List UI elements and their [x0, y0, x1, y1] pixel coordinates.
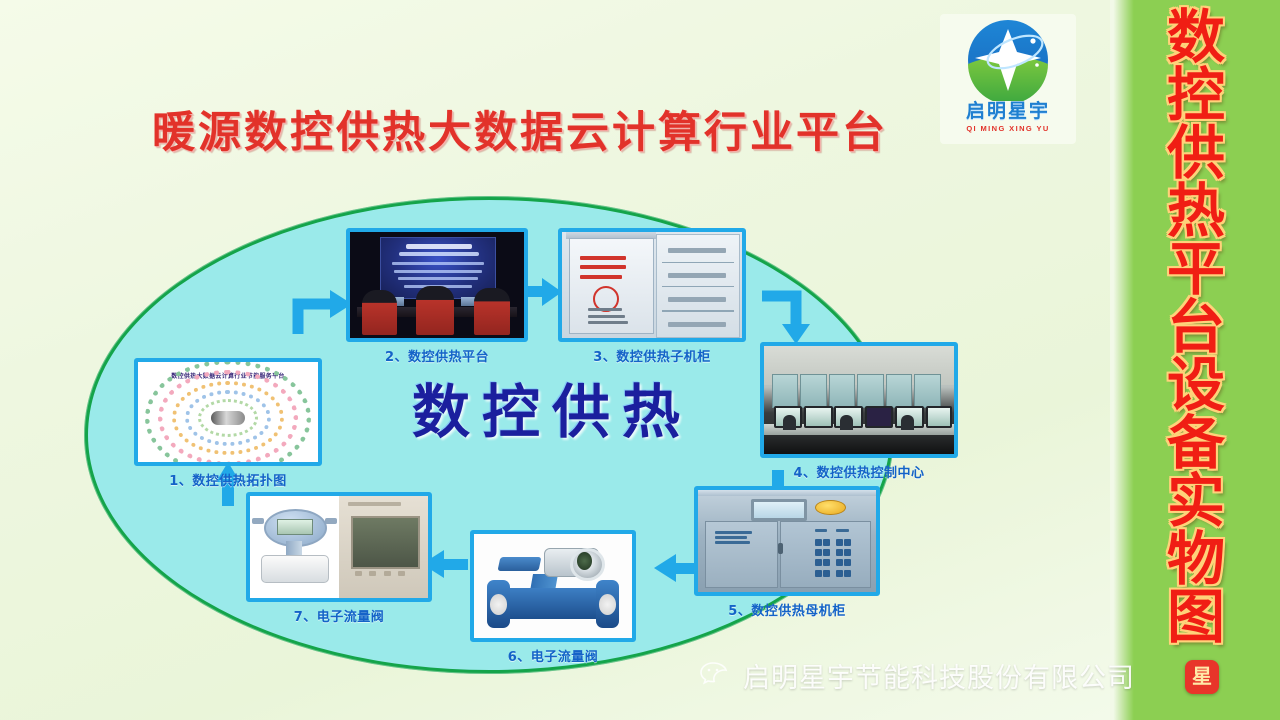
vertical-banner-char: 平 — [1167, 240, 1225, 298]
logo-pinyin-name: QI MING XING YU — [966, 124, 1049, 133]
meter-photo — [250, 496, 339, 598]
meter-arm-right — [325, 518, 337, 523]
watermark-badge: 星 — [1185, 660, 1219, 694]
watermark-badge-label: 星 — [1192, 667, 1212, 687]
person-2 — [416, 286, 454, 335]
vertical-banner-char: 数 — [1167, 8, 1225, 66]
person-3 — [474, 288, 511, 335]
logo-star-icon — [957, 19, 1059, 101]
photo-flow-meter-panel — [246, 492, 432, 602]
vertical-banner-char: 设 — [1167, 356, 1225, 414]
card-main-cabinet[interactable]: 5、数控供热母机柜 — [694, 486, 880, 618]
vertical-banner: 数控供热平台设备实物图 — [1148, 8, 1244, 714]
screen-title-line — [406, 244, 473, 249]
vertical-banner-char: 台 — [1167, 298, 1225, 356]
vertical-banner-char: 供 — [1167, 124, 1225, 182]
meter-pipe — [261, 555, 329, 583]
floor — [764, 435, 954, 454]
card-flow-meter-panel[interactable]: 7、电子流量阀 — [246, 492, 432, 624]
topology-hub-icon — [211, 411, 245, 425]
cabinet-topbar — [698, 490, 876, 496]
panel-screen — [351, 516, 419, 569]
cabinet-lcd-display — [751, 499, 807, 521]
meter-arm-left — [252, 518, 264, 523]
photo-meeting-room — [346, 228, 528, 342]
cabinet-left-door — [705, 521, 778, 588]
card-sub-cabinet[interactable]: 3、数控供热子机柜 — [558, 228, 746, 364]
person-1 — [362, 290, 397, 335]
card-platform[interactable]: 2、数控供热平台 — [346, 228, 528, 364]
vertical-banner-char: 热 — [1167, 182, 1225, 240]
caption-item-7: 7、电子流量阀 — [246, 606, 432, 625]
arrow-1-to-2 — [292, 286, 354, 336]
watermark: 启明星宇节能科技股份有限公司 — [700, 655, 1135, 695]
control-panel-photo — [339, 496, 428, 598]
photo-control-center — [760, 342, 958, 458]
cabinet-handle — [778, 543, 783, 554]
vertical-banner-char: 物 — [1167, 530, 1225, 588]
screen-subtitle-line — [399, 252, 479, 256]
caption-item-3: 3、数控供热子机柜 — [558, 346, 746, 365]
center-headline: 数控供热 — [372, 382, 732, 442]
photo-sub-cabinet — [558, 228, 746, 342]
page-title: 暖源数控供热大数据云计算行业平台 — [110, 98, 930, 160]
meter-lcd — [277, 519, 313, 534]
card-flow-meter[interactable]: 6、电子流量阀 — [470, 530, 636, 664]
caption-item-5: 5、数控供热母机柜 — [694, 600, 880, 619]
wechat-icon — [700, 660, 734, 690]
caption-item-6: 6、电子流量阀 — [470, 646, 636, 665]
cabinet-door — [569, 238, 654, 333]
caption-item-1: 1、数控供热拓扑图 — [134, 470, 322, 489]
vertical-banner-char: 实 — [1167, 472, 1225, 530]
meter-body — [499, 588, 603, 619]
slide-canvas: 暖源数控供热大数据云计算行业平台 启明星宇 — [0, 0, 1280, 720]
vertical-banner-char: 图 — [1167, 588, 1225, 646]
meter-tail — [498, 557, 542, 571]
photo-flow-meter — [470, 530, 636, 642]
cabinet-right-panel — [656, 234, 741, 338]
caption-item-4: 4、数控供热控制中心 — [760, 462, 958, 481]
photo-main-cabinet — [694, 486, 880, 596]
card-topology[interactable]: 数控供热大数据云计算行业节能服务平台 1、数控供热拓扑图 — [134, 358, 322, 488]
cabinet-brand-badge — [815, 500, 845, 515]
watermark-text: 启明星宇节能科技股份有限公司 — [743, 656, 1135, 695]
photo-topology: 数控供热大数据云计算行业节能服务平台 — [134, 358, 322, 466]
panel-top-label — [348, 502, 401, 506]
card-control-center[interactable]: 4、数控供热控制中心 — [760, 342, 958, 480]
arrow-3-to-4 — [760, 288, 822, 344]
vertical-banner-char: 控 — [1167, 66, 1225, 124]
caption-item-2: 2、数控供热平台 — [346, 346, 528, 365]
vertical-banner-char: 备 — [1167, 414, 1225, 472]
cabinet-right-door — [780, 521, 871, 588]
company-logo: 启明星宇 QI MING XING YU — [940, 14, 1076, 144]
logo-chinese-name: 启明星宇 — [966, 102, 1050, 121]
meter-stem — [286, 541, 302, 555]
